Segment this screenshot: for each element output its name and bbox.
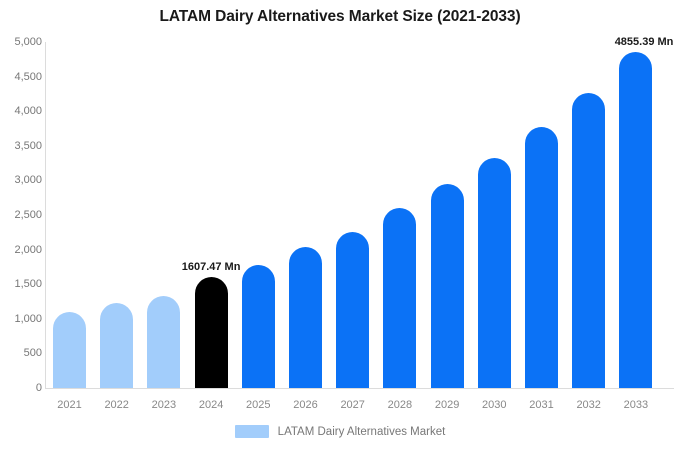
bar[interactable] [100, 303, 133, 388]
bar[interactable] [53, 312, 86, 388]
bar[interactable] [525, 127, 558, 388]
bar[interactable] [619, 52, 652, 388]
bar[interactable] [431, 184, 464, 388]
x-axis-tick-label: 2030 [471, 399, 517, 411]
y-axis-tick-label: 3,000 [2, 174, 42, 186]
legend-swatch-icon [235, 425, 269, 438]
x-axis-tick-label: 2025 [235, 399, 281, 411]
x-axis-tick-label: 2031 [519, 399, 565, 411]
y-axis-tick-label: 5,000 [2, 36, 42, 48]
x-axis-tick-label: 2028 [377, 399, 423, 411]
bar[interactable] [147, 296, 180, 388]
bar[interactable] [478, 158, 511, 388]
y-axis-tick-label: 2,500 [2, 209, 42, 221]
x-axis-tick-label: 2023 [141, 399, 187, 411]
y-axis-tick-label: 0 [2, 382, 42, 394]
chart-legend: LATAM Dairy Alternatives Market [0, 425, 680, 438]
y-axis-tick-label: 500 [2, 347, 42, 359]
bar-chart: LATAM Dairy Alternatives Market Size (20… [0, 0, 680, 450]
x-axis-tick-label: 2032 [566, 399, 612, 411]
y-axis-tick-label: 2,000 [2, 244, 42, 256]
y-axis-tick-label: 3,500 [2, 140, 42, 152]
x-axis-tick-label: 2027 [330, 399, 376, 411]
legend-item[interactable]: LATAM Dairy Alternatives Market [235, 425, 446, 438]
y-axis-tick-label: 4,000 [2, 105, 42, 117]
bar-value-label: 1607.47 Mn [182, 261, 241, 273]
bar[interactable] [242, 265, 275, 388]
bar[interactable] [383, 208, 416, 388]
y-axis: 5,0004,5004,0003,5003,0002,5002,0001,500… [0, 0, 42, 450]
bar[interactable] [336, 232, 369, 388]
bar-value-label: 4855.39 Mn [615, 36, 674, 48]
x-axis-tick-label: 2026 [283, 399, 329, 411]
bar[interactable] [572, 93, 605, 388]
bars-container: 1607.47 Mn4855.39 Mn [46, 0, 674, 450]
y-axis-tick-label: 1,000 [2, 313, 42, 325]
x-axis-tick-label: 2029 [424, 399, 470, 411]
x-axis-tick-label: 2033 [613, 399, 659, 411]
y-axis-tick-label: 4,500 [2, 71, 42, 83]
x-axis: 2021202220232024202520262027202820292030… [46, 399, 674, 415]
x-axis-tick-label: 2024 [188, 399, 234, 411]
x-axis-tick-label: 2022 [94, 399, 140, 411]
bar[interactable] [289, 247, 322, 388]
x-axis-tick-label: 2021 [47, 399, 93, 411]
legend-label: LATAM Dairy Alternatives Market [278, 426, 446, 438]
y-axis-tick-label: 1,500 [2, 278, 42, 290]
bar[interactable] [195, 277, 228, 388]
